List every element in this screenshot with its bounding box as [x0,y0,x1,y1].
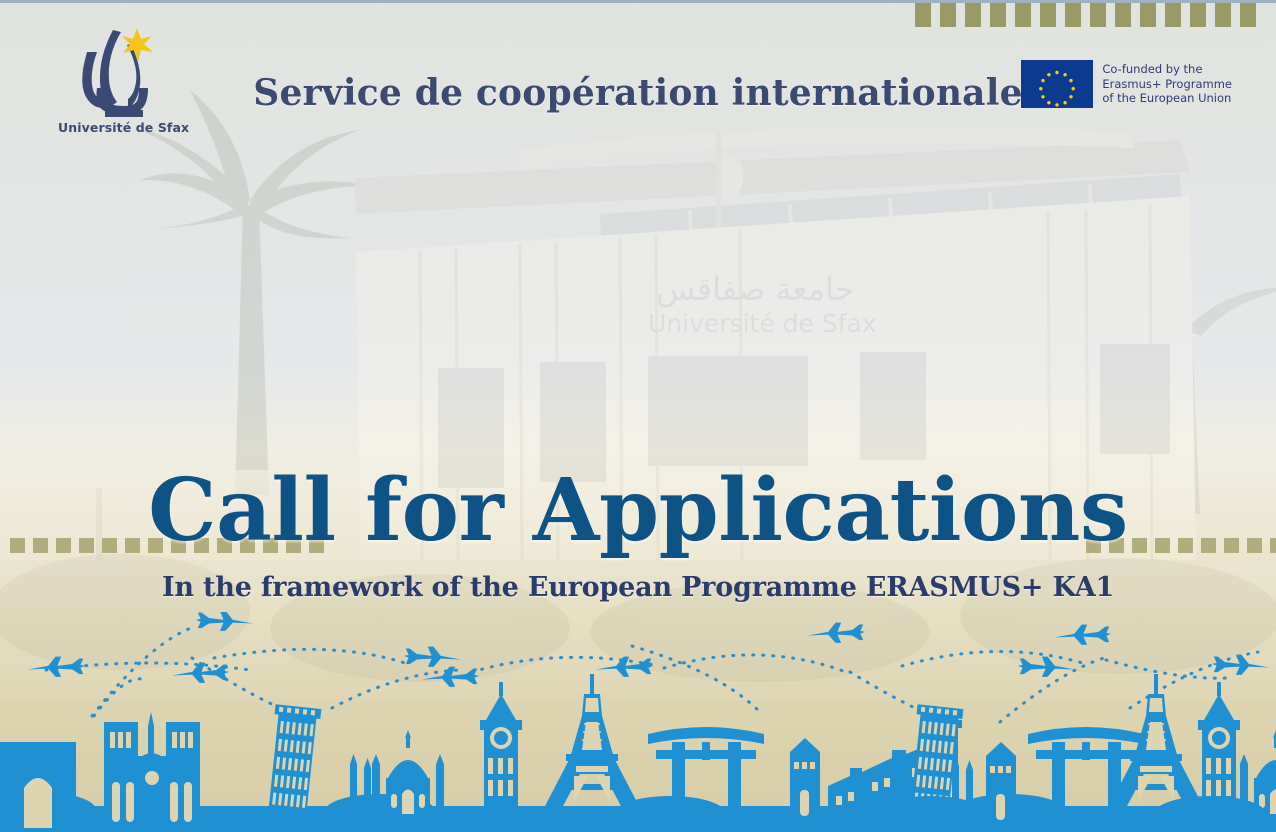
dash-segment [1115,1,1131,27]
dash-segment [1090,1,1106,27]
world-landmarks-skyline [0,672,1276,832]
page-subtitle: In the framework of the European Program… [0,572,1276,603]
dash-segment [1240,1,1256,27]
eu-funding-text: Co-funded by the Erasmus+ Programme of t… [1102,62,1232,105]
call-for-applications-poster: جامعة صفاقس Université de Sfax [0,0,1276,832]
top-divider-rule [0,0,1276,3]
dash-segment [915,1,931,27]
dash-segment [1065,1,1081,27]
european-union-flag [1021,60,1093,108]
top-right-dash-decoration [915,1,1276,27]
dash-segment [940,1,956,27]
dash-segment [1040,1,1056,27]
dash-segment [990,1,1006,27]
svg-text:Université de Sfax: Université de Sfax [648,309,877,338]
svg-text:جامعة صفاقس: جامعة صفاقس [656,270,855,308]
page-title: Call for Applications [0,468,1276,554]
logo-caption: Université de Sfax [58,120,182,135]
dash-segment [1190,1,1206,27]
dash-segment [965,1,981,27]
dash-segment [1165,1,1181,27]
eu-funding-line-1: Co-funded by the [1102,62,1232,76]
dash-segment [1015,1,1031,27]
dash-segment [1215,1,1231,27]
eu-funding-badge: Co-funded by the Erasmus+ Programme of t… [1021,60,1232,108]
eu-funding-line-3: of the European Union [1102,91,1232,105]
eu-funding-line-2: Erasmus+ Programme [1102,77,1232,91]
dash-segment [1140,1,1156,27]
